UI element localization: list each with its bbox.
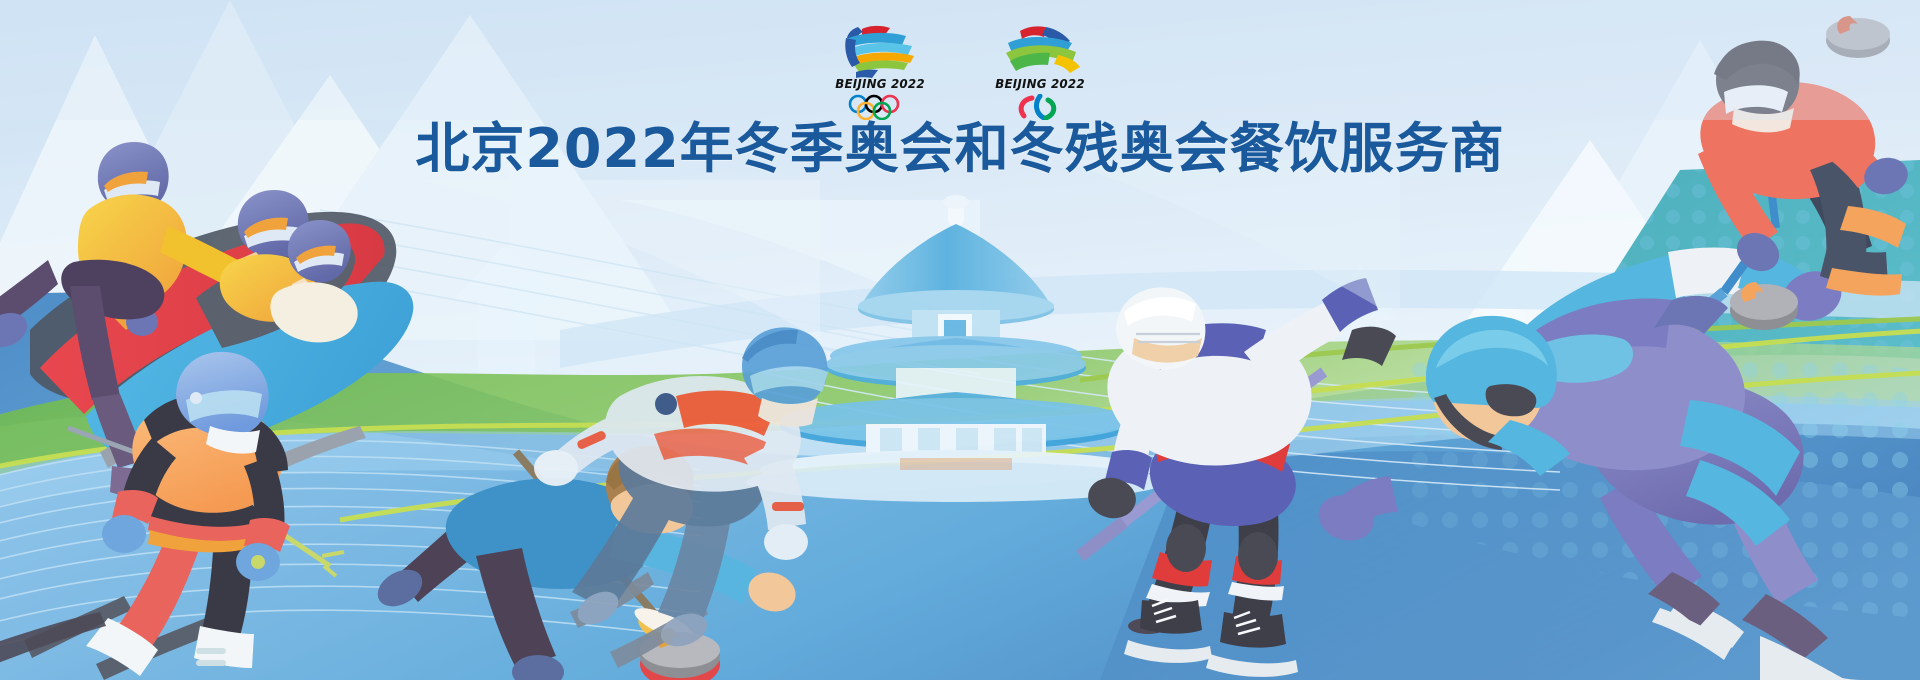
- olympic-wordmark: BEIJING 2022: [829, 76, 932, 91]
- paralympic-winter-ribbon-icon: [986, 22, 1094, 78]
- olympic-winter-ribbon-icon: [826, 22, 934, 78]
- paralympic-emblem: BEIJING 2022: [986, 22, 1094, 120]
- olympic-emblem: BEIJING 2022: [826, 22, 934, 120]
- olympic-banner: BEIJING 2022: [0, 0, 1920, 680]
- paralympic-wordmark: BEIJING 2022: [989, 76, 1092, 91]
- page-title: 北京2022年冬季奥会和冬残奥会餐饮服务商: [0, 118, 1920, 180]
- emblem-group: BEIJING 2022: [0, 22, 1920, 122]
